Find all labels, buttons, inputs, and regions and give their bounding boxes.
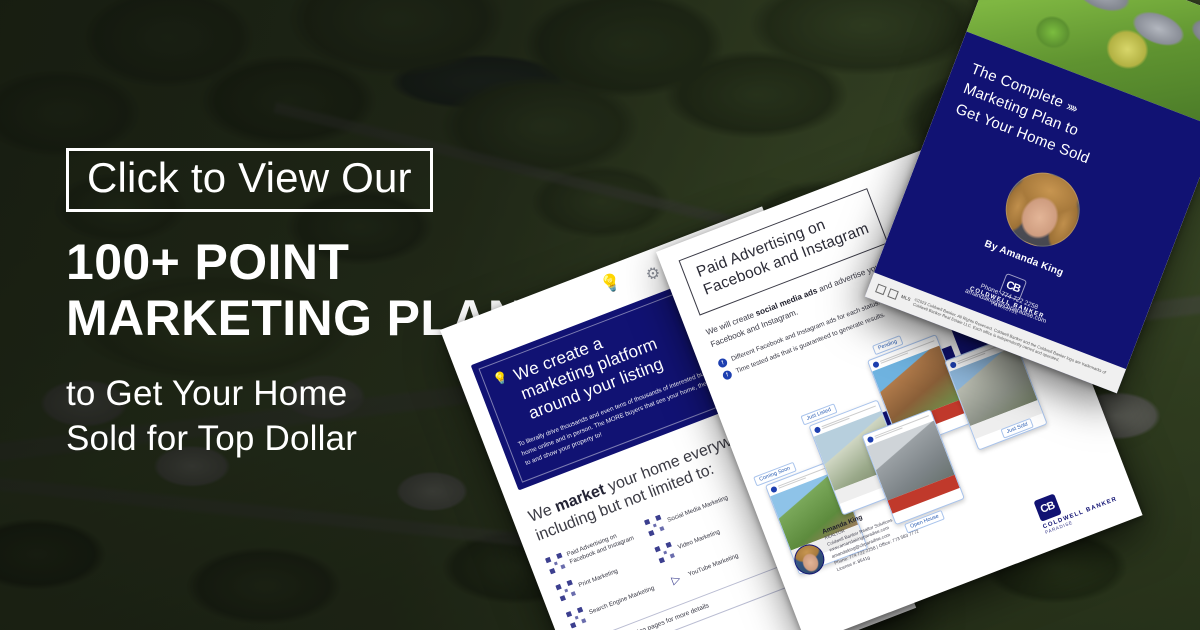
avatar: [872, 360, 880, 368]
qr-icon: [644, 515, 666, 537]
qr-icon: [655, 542, 677, 564]
avatar: [866, 435, 874, 443]
qr-icon: [555, 580, 577, 602]
facebook-bullet-icon: f: [717, 357, 729, 369]
lightbulb-icon: 💡: [491, 369, 511, 389]
headline-line-1: 100+ POINT: [66, 234, 586, 290]
chevrons-icon: ››››: [1064, 98, 1078, 115]
avatar: [813, 426, 821, 434]
qr-icon: [545, 553, 567, 575]
channel-label: Print Marketing: [578, 567, 620, 590]
click-to-view-cta-button[interactable]: Click to View Our: [66, 148, 433, 212]
channel-label: Video Marketing: [677, 528, 722, 552]
play-icon: ▷: [665, 569, 687, 591]
realtor-icon: [887, 288, 899, 300]
channel-label: YouTube Marketing: [687, 552, 740, 579]
promo-banner: Click to View Our 100+ POINT MARKETING P…: [0, 0, 1200, 630]
facebook-bullet-icon: f: [722, 369, 734, 381]
lightbulb-icon: 💡: [598, 270, 625, 296]
qr-icon: [566, 607, 588, 629]
avatar: [949, 361, 957, 369]
channel-label: Search Engine Marketing: [588, 584, 656, 617]
author-portrait: [995, 162, 1091, 258]
channel-label: Social Media Marketing: [666, 494, 729, 525]
agent-avatar: [790, 540, 829, 579]
avatar: [770, 485, 778, 493]
cta-label: Click to View Our: [87, 157, 412, 199]
equal-housing-opportunity-icon: [875, 283, 887, 295]
mls-label: MLS: [900, 294, 911, 303]
